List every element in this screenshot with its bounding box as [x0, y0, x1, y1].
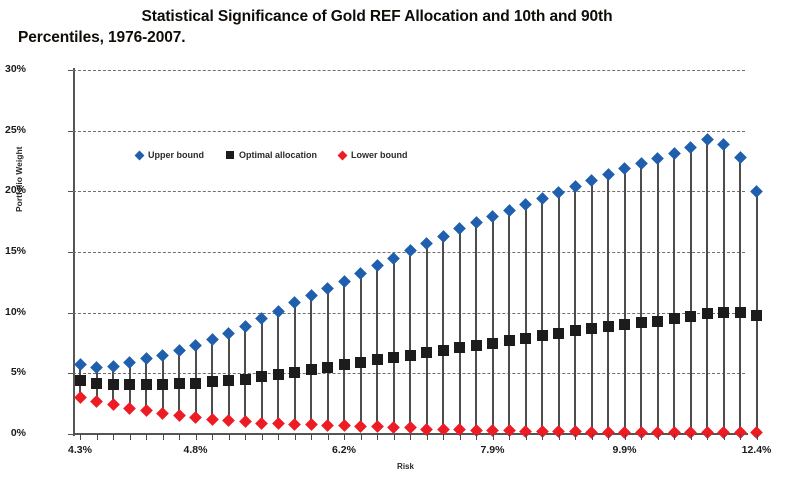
gridline — [73, 70, 745, 71]
data-point-marker — [388, 352, 399, 363]
x-tick-mark — [526, 434, 527, 440]
data-point-marker — [602, 168, 615, 181]
data-point-marker — [141, 379, 152, 390]
data-point-marker — [618, 162, 631, 175]
error-bar-stem — [690, 148, 692, 433]
chart-page: Statistical Significance of Gold REF All… — [0, 0, 787, 493]
data-point-marker — [371, 420, 384, 433]
data-point-marker — [90, 395, 103, 408]
gridline — [73, 131, 745, 132]
error-bar-stem — [310, 296, 312, 425]
data-point-marker — [504, 335, 515, 346]
data-point-marker — [668, 147, 681, 160]
data-point-marker — [289, 367, 300, 378]
data-point-marker — [421, 347, 432, 358]
data-point-marker — [619, 319, 630, 330]
data-point-marker — [189, 411, 202, 424]
data-point-marker — [717, 138, 730, 151]
data-point-marker — [206, 413, 219, 426]
data-point-marker — [305, 418, 318, 431]
data-point-marker — [108, 379, 119, 390]
data-point-marker — [371, 259, 384, 272]
x-tick-mark — [245, 434, 246, 440]
x-tick-mark — [658, 434, 659, 440]
data-point-marker — [471, 340, 482, 351]
y-tick-label: 15% — [0, 245, 26, 257]
data-point-marker — [322, 362, 333, 373]
x-tick-mark — [179, 434, 180, 440]
data-point-marker — [107, 399, 120, 412]
x-tick-mark — [592, 434, 593, 440]
legend-label: Lower bound — [351, 150, 408, 160]
error-bar-stem — [525, 205, 527, 432]
data-point-marker — [470, 217, 483, 230]
x-tick-label: 9.9% — [595, 444, 655, 456]
data-point-marker — [156, 407, 169, 420]
x-tick-mark — [575, 434, 576, 440]
y-axis-title: Portfolio Weight — [14, 147, 24, 212]
data-point-marker — [255, 417, 268, 430]
x-tick-mark — [97, 434, 98, 440]
data-point-marker — [190, 378, 201, 389]
x-tick-mark — [130, 434, 131, 440]
error-bar-stem — [393, 258, 395, 428]
error-bar-stem — [739, 157, 741, 432]
x-tick-mark — [427, 434, 428, 440]
x-tick-mark — [443, 434, 444, 440]
x-tick-label: 6.2% — [314, 444, 374, 456]
data-point-marker — [256, 371, 267, 382]
error-bar-stem — [640, 163, 642, 432]
data-point-marker — [453, 223, 466, 236]
x-tick-mark — [493, 434, 494, 440]
error-bar-stem — [492, 217, 494, 431]
data-point-marker — [734, 151, 747, 164]
y-tick-label: 10% — [0, 306, 26, 318]
x-tick-mark — [146, 434, 147, 440]
y-tick-label: 30% — [0, 63, 26, 75]
data-point-marker — [454, 342, 465, 353]
data-point-marker — [636, 317, 647, 328]
x-tick-mark — [262, 434, 263, 440]
data-point-marker — [74, 358, 87, 371]
data-point-marker — [603, 321, 614, 332]
y-tick-mark — [68, 252, 73, 253]
data-point-marker — [222, 327, 235, 340]
x-tick-mark — [559, 434, 560, 440]
x-tick-label: 12.4% — [727, 444, 787, 456]
data-point-marker — [123, 402, 136, 415]
data-point-marker — [652, 316, 663, 327]
data-point-marker — [90, 361, 103, 374]
plot-area: 0%5%10%15%20%25%30% — [73, 70, 745, 434]
data-point-marker — [438, 345, 449, 356]
error-bar-stem — [475, 223, 477, 430]
data-point-marker — [288, 297, 301, 310]
error-bar-stem — [409, 251, 411, 428]
x-tick-mark — [113, 434, 114, 440]
x-tick-mark — [410, 434, 411, 440]
x-tick-mark — [344, 434, 345, 440]
data-point-marker — [189, 339, 202, 352]
data-point-marker — [321, 419, 334, 432]
legend-item: Lower bound — [339, 150, 408, 160]
data-point-marker — [339, 359, 350, 370]
x-axis-title: Risk — [0, 462, 787, 471]
x-tick-mark — [740, 434, 741, 440]
data-point-marker — [272, 305, 285, 318]
x-tick-mark — [707, 434, 708, 440]
data-point-marker — [273, 369, 284, 380]
data-point-marker — [405, 350, 416, 361]
data-point-marker — [552, 186, 565, 199]
data-point-marker — [586, 323, 597, 334]
y-tick-label: 5% — [0, 366, 26, 378]
x-tick-mark — [691, 434, 692, 440]
error-bar-stem — [360, 274, 362, 427]
data-point-marker — [585, 174, 598, 187]
legend-item: Optimal allocation — [226, 150, 317, 160]
data-point-marker — [321, 282, 334, 295]
legend-label: Optimal allocation — [239, 150, 317, 160]
data-point-marker — [553, 328, 564, 339]
error-bar-stem — [591, 180, 593, 432]
title-line-2: Percentiles, 1976-2007. — [18, 27, 758, 48]
error-bar-stem — [508, 211, 510, 431]
data-point-marker — [223, 375, 234, 386]
data-point-marker — [239, 320, 252, 333]
error-bar-stem — [343, 281, 345, 425]
data-point-marker — [387, 252, 400, 265]
data-point-marker — [437, 230, 450, 243]
legend-item: Upper bound — [136, 150, 204, 160]
data-point-marker — [685, 311, 696, 322]
data-point-marker — [701, 133, 714, 146]
data-point-marker — [124, 379, 135, 390]
x-tick-mark — [394, 434, 395, 440]
data-point-marker — [519, 198, 532, 211]
error-bar-stem — [376, 265, 378, 426]
data-point-marker — [372, 354, 383, 365]
x-tick-label: 7.9% — [463, 444, 523, 456]
data-point-marker — [751, 310, 762, 321]
y-tick-mark — [68, 131, 73, 132]
data-point-marker — [123, 356, 136, 369]
data-point-marker — [651, 152, 664, 165]
data-point-marker — [735, 307, 746, 318]
x-tick-mark — [377, 434, 378, 440]
data-point-marker — [255, 312, 268, 325]
y-tick-mark — [68, 313, 73, 314]
x-tick-mark — [80, 434, 81, 440]
data-point-marker — [420, 237, 433, 250]
error-bar-stem — [327, 288, 329, 425]
data-point-marker — [107, 360, 120, 373]
data-point-marker — [750, 185, 763, 198]
y-tick-mark — [68, 373, 73, 374]
data-point-marker — [635, 157, 648, 170]
error-bar-stem — [541, 199, 543, 432]
error-bar-stem — [673, 154, 675, 433]
data-point-marker — [140, 405, 153, 418]
x-tick-mark — [229, 434, 230, 440]
data-point-marker — [404, 422, 417, 435]
data-point-marker — [156, 349, 169, 362]
error-bar-stem — [442, 236, 444, 429]
x-tick-mark — [641, 434, 642, 440]
x-tick-mark — [542, 434, 543, 440]
x-tick-mark — [163, 434, 164, 440]
data-point-marker — [338, 419, 351, 432]
gridline — [73, 191, 745, 192]
legend-label: Upper bound — [148, 150, 204, 160]
data-point-marker — [306, 364, 317, 375]
data-point-marker — [669, 313, 680, 324]
y-tick-mark — [68, 191, 73, 192]
x-tick-mark — [757, 434, 758, 440]
data-point-marker — [503, 204, 516, 217]
diamond-marker-icon — [135, 150, 145, 160]
y-tick-label: 20% — [0, 184, 26, 196]
data-point-marker — [239, 415, 252, 428]
data-point-marker — [75, 375, 86, 386]
error-bar-stem — [723, 144, 725, 433]
data-point-marker — [305, 289, 318, 302]
error-bar-stem — [574, 186, 576, 431]
data-point-marker — [486, 210, 499, 223]
x-tick-mark — [608, 434, 609, 440]
data-point-marker — [387, 422, 400, 435]
data-point-marker — [702, 308, 713, 319]
error-bar-stem — [706, 139, 708, 433]
y-tick-mark — [68, 434, 73, 435]
data-point-marker — [338, 275, 351, 288]
error-bar-stem — [294, 303, 296, 424]
data-point-marker — [537, 330, 548, 341]
data-point-marker — [173, 409, 186, 422]
data-point-marker — [288, 418, 301, 431]
y-tick-label: 0% — [0, 427, 26, 439]
x-tick-mark — [212, 434, 213, 440]
data-point-marker — [140, 352, 153, 365]
data-point-marker — [240, 374, 251, 385]
x-tick-mark — [509, 434, 510, 440]
data-point-marker — [74, 391, 87, 404]
square-marker-icon — [226, 151, 234, 159]
legend: Upper boundOptimal allocationLower bound — [136, 150, 408, 160]
data-point-marker — [684, 141, 697, 154]
x-tick-mark — [328, 434, 329, 440]
data-point-marker — [570, 325, 581, 336]
data-point-marker — [520, 333, 531, 344]
data-point-marker — [536, 192, 549, 205]
data-point-marker — [354, 267, 367, 280]
y-tick-label: 25% — [0, 124, 26, 136]
x-tick-mark — [674, 434, 675, 440]
x-tick-mark — [311, 434, 312, 440]
x-tick-mark — [196, 434, 197, 440]
error-bar-stem — [607, 174, 609, 432]
x-tick-mark — [625, 434, 626, 440]
x-tick-mark — [278, 434, 279, 440]
y-tick-mark — [68, 70, 73, 71]
error-bar-stem — [558, 193, 560, 432]
title-line-1: Statistical Significance of Gold REF All… — [18, 6, 758, 27]
x-tick-mark — [476, 434, 477, 440]
data-point-marker — [718, 307, 729, 318]
data-point-marker — [174, 378, 185, 389]
data-point-marker — [157, 379, 168, 390]
data-point-marker — [173, 344, 186, 357]
diamond-marker-icon — [338, 150, 348, 160]
x-tick-mark — [724, 434, 725, 440]
error-bar-stem — [459, 229, 461, 429]
data-point-marker — [91, 378, 102, 389]
data-point-marker — [207, 376, 218, 387]
error-bar-stem — [624, 168, 626, 433]
x-tick-label: 4.3% — [50, 444, 110, 456]
page-title: Statistical Significance of Gold REF All… — [18, 6, 758, 48]
data-point-marker — [487, 338, 498, 349]
x-tick-mark — [361, 434, 362, 440]
data-point-marker — [354, 420, 367, 433]
x-tick-mark — [460, 434, 461, 440]
data-point-marker — [355, 357, 366, 368]
data-point-marker — [222, 414, 235, 427]
x-tick-mark — [295, 434, 296, 440]
data-point-marker — [272, 417, 285, 430]
data-point-marker — [404, 244, 417, 257]
data-point-marker — [206, 333, 219, 346]
error-bar-stem — [277, 311, 279, 423]
error-bar-stem — [657, 159, 659, 433]
x-tick-label: 4.8% — [166, 444, 226, 456]
error-bar-stem — [426, 244, 428, 430]
